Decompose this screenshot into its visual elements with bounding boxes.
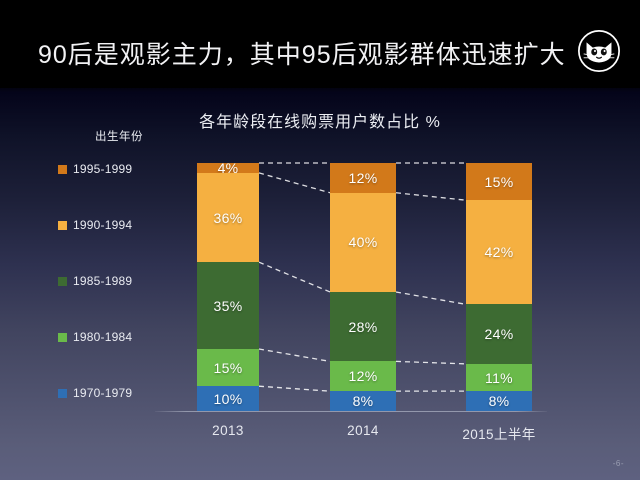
bar-segment-2015上半年-1980-1984[interactable]: 11% bbox=[466, 364, 532, 391]
segment-connector-lines bbox=[0, 0, 640, 480]
bar-segment-value-label: 40% bbox=[349, 234, 378, 250]
bar-segment-2014-1985-1989[interactable]: 28% bbox=[330, 292, 396, 361]
bar-segment-2013-1970-1979[interactable]: 10% bbox=[197, 386, 259, 411]
bar-segment-value-label: 8% bbox=[353, 393, 374, 409]
bar-segment-2013-1985-1989[interactable]: 35% bbox=[197, 262, 259, 349]
slide-canvas: 90后是观影主力，其中95后观影群体迅速扩大 各年龄段在线购票用户数占比 % 出… bbox=[0, 0, 640, 480]
bar-segment-value-label: 36% bbox=[214, 210, 243, 226]
bar-segment-value-label: 15% bbox=[214, 360, 243, 376]
connector-line bbox=[396, 361, 466, 363]
connector-line bbox=[396, 193, 466, 200]
bar-segment-value-label: 12% bbox=[349, 368, 378, 384]
x-axis-line bbox=[155, 411, 547, 412]
bar-segment-2015上半年-1995-1999[interactable]: 15% bbox=[466, 163, 532, 200]
bar-segment-value-label: 8% bbox=[489, 393, 510, 409]
bar-segment-2014-1995-1999[interactable]: 12% bbox=[330, 163, 396, 193]
x-axis-label-2015上半年: 2015上半年 bbox=[446, 423, 552, 443]
bar-segment-2014-1970-1979[interactable]: 8% bbox=[330, 391, 396, 411]
bar-segment-2013-1990-1994[interactable]: 36% bbox=[197, 173, 259, 262]
page-number: -6- bbox=[613, 459, 624, 468]
bar-segment-value-label: 42% bbox=[485, 244, 514, 260]
stacked-bar-2014[interactable]: 8%12%28%40%12% bbox=[330, 163, 396, 411]
bar-segment-value-label: 15% bbox=[485, 174, 514, 190]
bar-segment-2013-1980-1984[interactable]: 15% bbox=[197, 349, 259, 386]
connector-line bbox=[396, 292, 466, 304]
bar-segment-2014-1980-1984[interactable]: 12% bbox=[330, 361, 396, 391]
connector-line bbox=[259, 386, 330, 391]
bar-segment-2014-1990-1994[interactable]: 40% bbox=[330, 193, 396, 292]
chart-plot-area: 10%15%35%36%4%20138%12%28%40%12%20148%11… bbox=[0, 0, 640, 480]
connector-line bbox=[259, 173, 330, 193]
stacked-bar-2015上半年[interactable]: 8%11%24%42%15% bbox=[466, 163, 532, 411]
x-axis-label-2014: 2014 bbox=[310, 423, 416, 438]
bar-segment-value-label: 4% bbox=[218, 163, 239, 173]
bar-segment-value-label: 12% bbox=[349, 170, 378, 186]
stacked-bar-2013[interactable]: 10%15%35%36%4% bbox=[197, 163, 259, 411]
bar-segment-value-label: 10% bbox=[214, 391, 243, 407]
bar-segment-value-label: 28% bbox=[349, 319, 378, 335]
bar-segment-2013-1995-1999[interactable]: 4% bbox=[197, 163, 259, 173]
bar-segment-2015上半年-1970-1979[interactable]: 8% bbox=[466, 391, 532, 411]
bar-segment-2015上半年-1990-1994[interactable]: 42% bbox=[466, 200, 532, 304]
x-axis-label-2013: 2013 bbox=[177, 423, 279, 438]
bar-segment-2015上半年-1985-1989[interactable]: 24% bbox=[466, 304, 532, 364]
bar-segment-value-label: 24% bbox=[485, 326, 514, 342]
connector-line bbox=[259, 349, 330, 361]
bar-segment-value-label: 35% bbox=[214, 298, 243, 314]
bar-segment-value-label: 11% bbox=[485, 370, 513, 386]
connector-line bbox=[259, 262, 330, 292]
